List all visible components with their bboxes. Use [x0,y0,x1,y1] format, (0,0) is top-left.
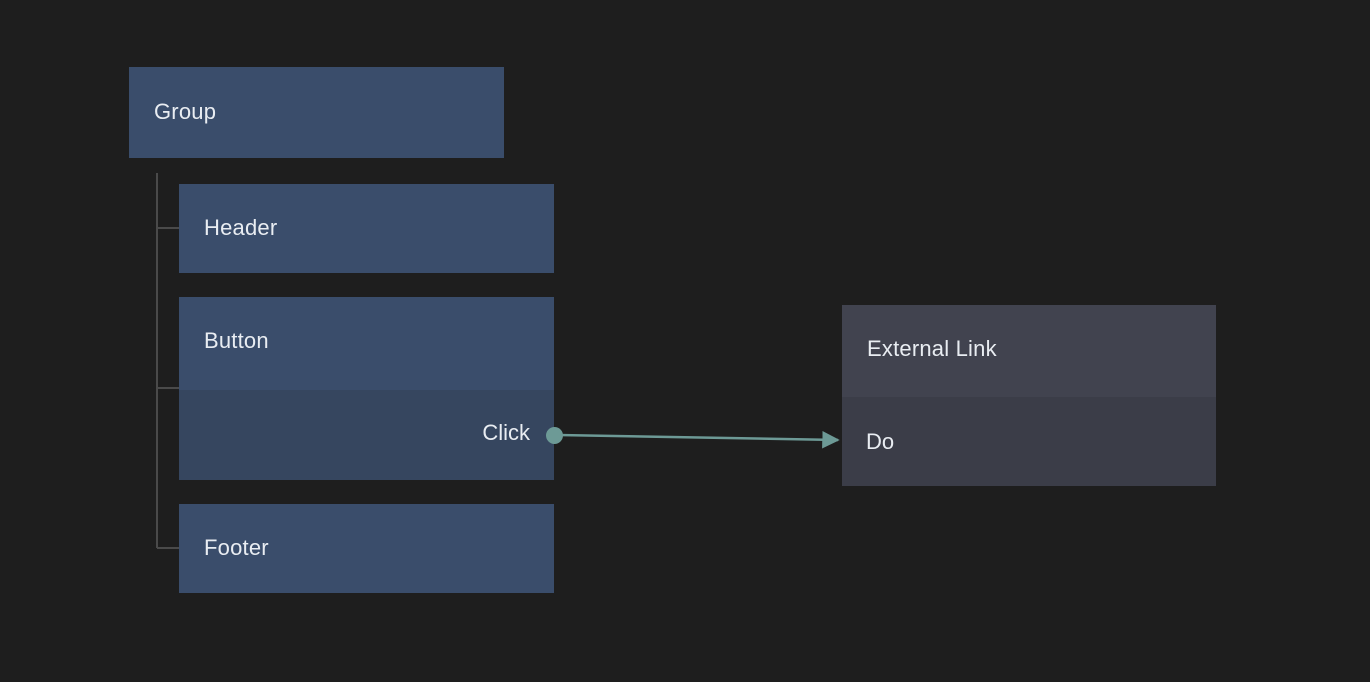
port-label-click: Click [482,422,530,444]
node-button-title: Button [204,330,269,352]
edge-click-to-do[interactable] [558,435,838,440]
node-button[interactable]: Button Click [179,297,554,480]
node-external-link-title: External Link [867,338,997,360]
node-footer-title: Footer [204,537,269,559]
node-footer[interactable]: Footer [179,504,554,593]
node-external-link-port-in[interactable]: Do [842,424,1216,460]
node-button-port-out[interactable]: Click [179,415,554,451]
port-label-do: Do [866,431,894,453]
node-graph-canvas: Group Header Button Click Footer Externa… [0,0,1370,682]
node-external-link[interactable]: External Link Do [842,305,1216,486]
node-group[interactable]: Group [129,67,504,158]
node-group-title: Group [154,101,216,123]
node-header[interactable]: Header [179,184,554,273]
node-header-title: Header [204,217,277,239]
port-dot-click[interactable] [546,427,563,444]
